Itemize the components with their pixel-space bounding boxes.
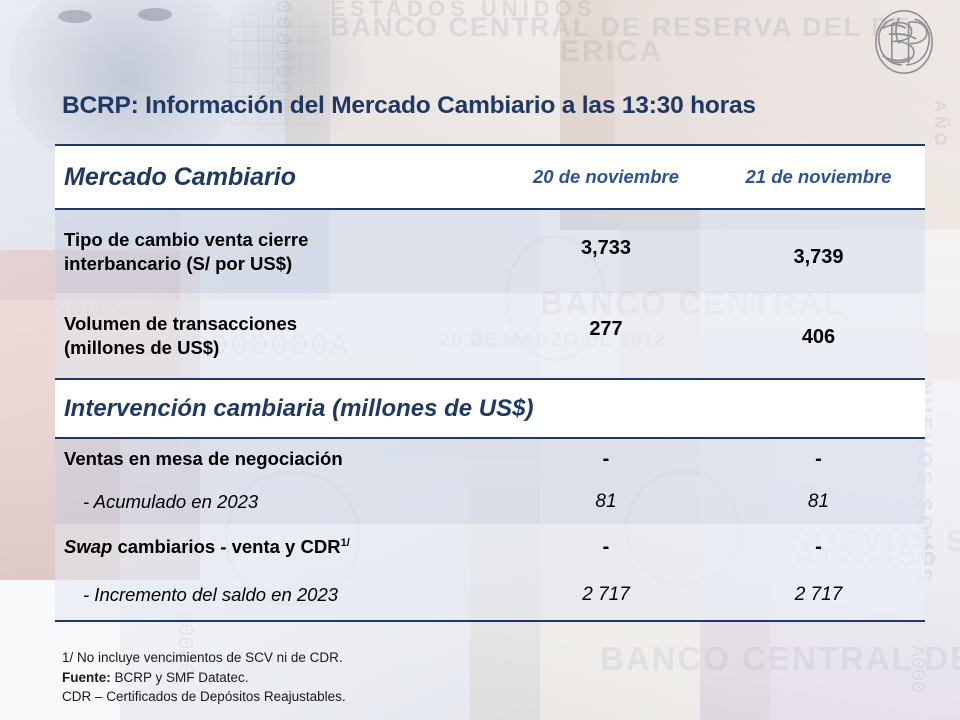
table-row: Ventas en mesa de negociación - -	[55, 439, 925, 479]
column-header-date-1: 20 de noviembre	[500, 166, 712, 188]
footnotes: 1/ No incluye vencimientos de SCV ni de …	[62, 648, 346, 707]
row-label-swap-rest: cambiarios - venta y CDR	[112, 536, 340, 557]
slide-title: BCRP: Información del Mercado Cambiario …	[62, 92, 756, 120]
cell-incremento-col2: 2 717	[712, 584, 925, 606]
table-row: Volumen de transacciones (millones de US…	[55, 293, 925, 378]
row-label-line-1: Volumen de transacciones	[64, 312, 500, 335]
cell-ventas-mesa-col2: -	[712, 448, 925, 471]
cell-swap-col2: -	[712, 536, 925, 559]
section-band-intervencion: Intervención cambiaria (millones de US$)	[55, 380, 925, 437]
row-label-line-1: Tipo de cambio venta cierre	[64, 228, 500, 251]
table-row: Tipo de cambio venta cierre interbancari…	[55, 210, 925, 293]
section-title-mercado-cambiario: Mercado Cambiario	[55, 163, 500, 192]
footnote-source: Fuente: BCRP y SMF Datatec.	[62, 668, 346, 688]
row-label-tipo-de-cambio: Tipo de cambio venta cierre interbancari…	[55, 228, 500, 274]
row-label-line-2: interbancario (S/ por US$)	[64, 252, 500, 275]
footnote-line-1: 1/ No incluye vencimientos de SCV ni de …	[62, 648, 346, 668]
table-bottom-rule	[55, 620, 925, 622]
row-band-ventas-mesa: Ventas en mesa de negociación - -	[55, 439, 925, 479]
row-label-incremento-saldo-2023: - Incremento del saldo en 2023	[55, 584, 500, 606]
cell-swap-col1: -	[500, 536, 712, 559]
bcrp-monogram-logo	[866, 4, 942, 80]
table-row: Swap cambiarios - venta y CDR1/ - -	[55, 524, 925, 570]
cell-tipo-de-cambio-col2: 3,739	[712, 234, 925, 269]
column-header-date-2: 21 de noviembre	[712, 166, 925, 188]
table-row: - Incremento del saldo en 2023 2 717 2 7…	[55, 570, 925, 620]
row-band-volumen: Volumen de transacciones (millones de US…	[55, 293, 925, 378]
footnote-source-label: Fuente:	[62, 670, 111, 685]
cell-incremento-col1: 2 717	[500, 584, 712, 606]
cell-ventas-mesa-col1: -	[500, 448, 712, 471]
section-header-row: Intervención cambiaria (millones de US$)	[55, 380, 925, 437]
footnote-source-value: BCRP y SMF Datatec.	[111, 670, 249, 685]
footnote-marker: 1/	[341, 537, 350, 549]
table-row: - Acumulado en 2023 81 81	[55, 479, 925, 524]
cell-acumulado-col2: 81	[712, 491, 925, 513]
row-label-volumen: Volumen de transacciones (millones de US…	[55, 312, 500, 358]
section-title-intervencion-cambiaria: Intervención cambiaria (millones de US$)	[55, 395, 925, 423]
row-label-ventas-mesa: Ventas en mesa de negociación	[55, 448, 500, 470]
row-band-incremento: - Incremento del saldo en 2023 2 717 2 7…	[55, 570, 925, 620]
row-label-swap-word: Swap	[64, 536, 112, 557]
row-label-line-2: (millones de US$)	[64, 336, 500, 359]
cell-tipo-de-cambio-col1: 3,733	[500, 237, 712, 266]
row-band-tipo-de-cambio: Tipo de cambio venta cierre interbancari…	[55, 210, 925, 293]
row-band-acumulado: - Acumulado en 2023 81 81	[55, 479, 925, 524]
row-band-swap: Swap cambiarios - venta y CDR1/ - -	[55, 524, 925, 570]
table-header-band: Mercado Cambiario 20 de noviembre 21 de …	[55, 146, 925, 208]
table-header-row: Mercado Cambiario 20 de noviembre 21 de …	[55, 146, 925, 208]
footnote-line-3: CDR – Certificados de Depósitos Reajusta…	[62, 687, 346, 707]
row-label-swap-cambiarios: Swap cambiarios - venta y CDR1/	[55, 536, 500, 558]
cell-acumulado-col1: 81	[500, 491, 712, 513]
exchange-market-table: Mercado Cambiario 20 de noviembre 21 de …	[55, 144, 925, 622]
cell-volumen-col1: 277	[500, 318, 712, 353]
cell-volumen-col2: 406	[712, 322, 925, 349]
row-label-acumulado-2023: - Acumulado en 2023	[55, 491, 500, 513]
